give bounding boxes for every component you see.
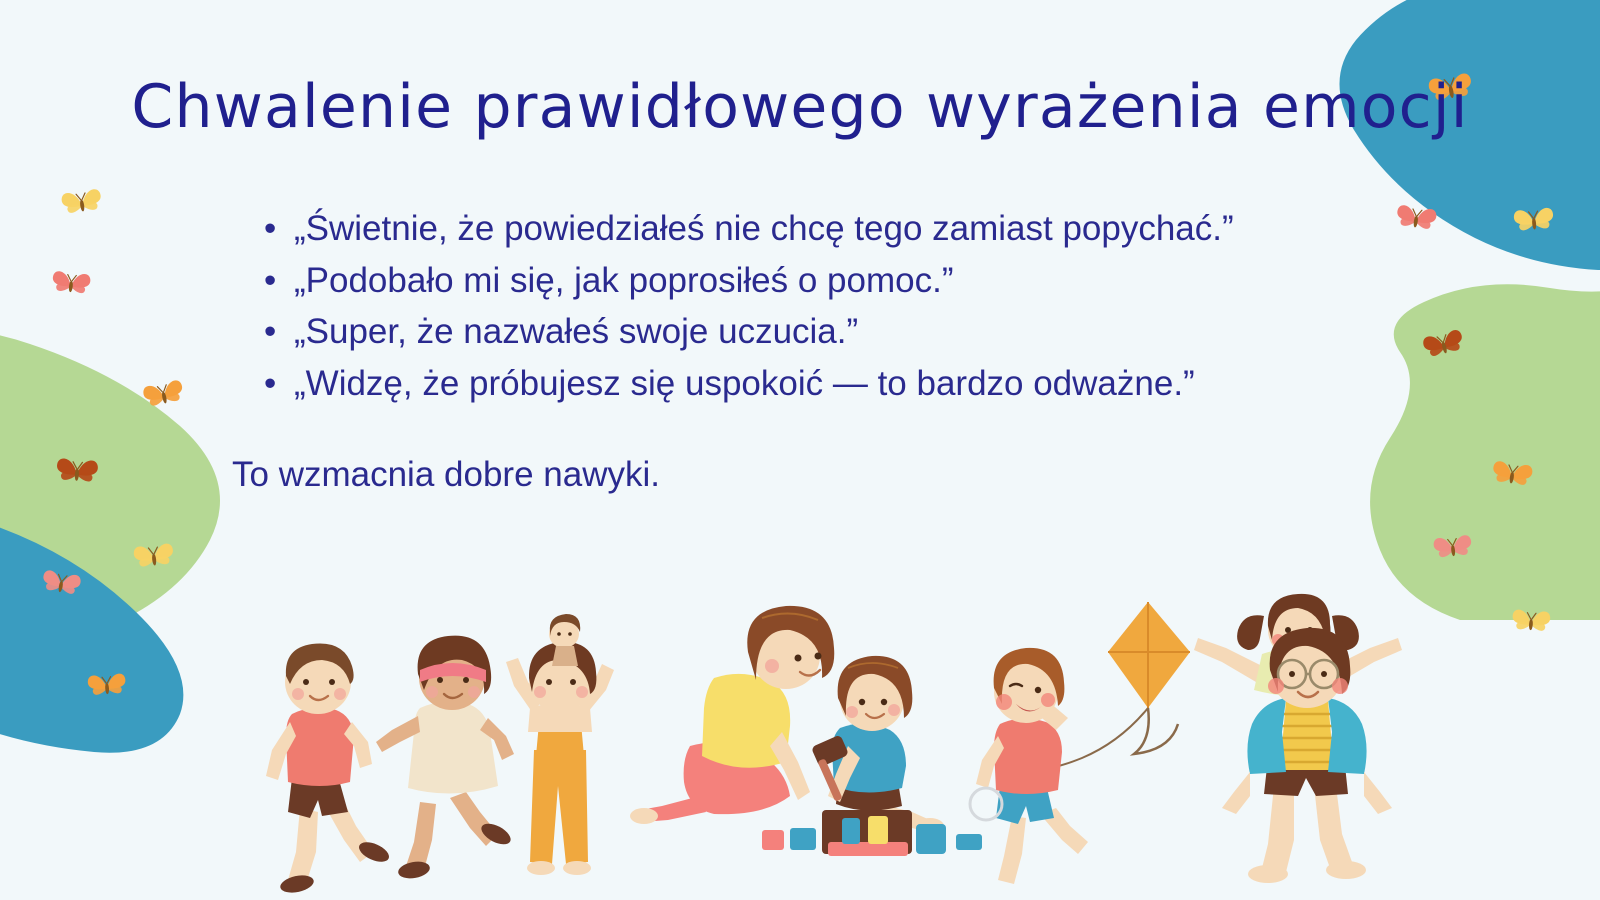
butterfly-top-left-coral — [46, 260, 97, 311]
closing-statement: To wzmacnia dobre nawyki. — [232, 452, 1404, 498]
bullet-marker: • — [264, 361, 276, 407]
list-item: • „Widzę, że próbujesz się uspokoić — to… — [232, 361, 1404, 407]
list-item: • „Podobało mi się, jak poprosiłeś o pom… — [232, 258, 1404, 304]
page-title: Chwalenie prawidłowego wyrażenia emocji — [0, 72, 1600, 142]
bullet-marker: • — [264, 258, 276, 304]
list-item-text: „Świetnie, że powiedziałeś nie chcę tego… — [294, 206, 1404, 252]
blob-left-bottom — [0, 500, 250, 800]
butterfly-right-orange — [1485, 449, 1539, 503]
list-item: • „Świetnie, że powiedziałeś nie chcę te… — [232, 206, 1404, 252]
kite — [1040, 602, 1190, 768]
butterfly-left-bottom-orange — [82, 662, 131, 711]
figure-girl-on-shoulders — [1194, 594, 1402, 696]
butterfly-top-right-yellow — [1508, 196, 1560, 248]
figure-boy-with-kite — [970, 602, 1190, 884]
butterfly-right-pink — [1428, 524, 1479, 575]
butterfly-left-brown — [50, 446, 103, 499]
figure-running-boy — [266, 643, 392, 895]
butterfly-left-pink — [34, 558, 87, 611]
figure-boy-with-glasses — [1222, 628, 1392, 883]
list-item-text: „Widzę, że próbujesz się uspokoić — to b… — [294, 361, 1404, 407]
slide-root: Chwalenie prawidłowego wyrażenia emocji … — [0, 0, 1600, 900]
list-item: • „Super, że nazwałeś swoje uczucia.” — [232, 309, 1404, 355]
butterfly-right-bottom-yellow — [1506, 598, 1555, 647]
figure-boy-with-hammer — [811, 656, 944, 834]
children-playing-illustration — [0, 590, 1600, 900]
doll — [549, 614, 580, 666]
bullet-marker: • — [264, 206, 276, 252]
figure-child-with-doll-overalls — [506, 614, 614, 875]
figure-mother-playing — [630, 606, 834, 824]
butterfly-right-brown — [1415, 317, 1473, 375]
figure-toy-blocks — [762, 810, 982, 856]
content-block: • „Świetnie, że powiedziałeś nie chcę te… — [232, 206, 1404, 498]
butterfly-left-yellow — [128, 532, 181, 585]
figure-running-girl-dress — [376, 636, 514, 881]
butterfly-top-left-yellow — [55, 177, 109, 231]
butterfly-left-orange — [136, 368, 193, 425]
list-item-text: „Podobało mi się, jak poprosiłeś o pomoc… — [294, 258, 1404, 304]
bullet-marker: • — [264, 309, 276, 355]
list-item-text: „Super, że nazwałeś swoje uczucia.” — [294, 309, 1404, 355]
praise-phrase-list: • „Świetnie, że powiedziałeś nie chcę te… — [232, 206, 1404, 406]
